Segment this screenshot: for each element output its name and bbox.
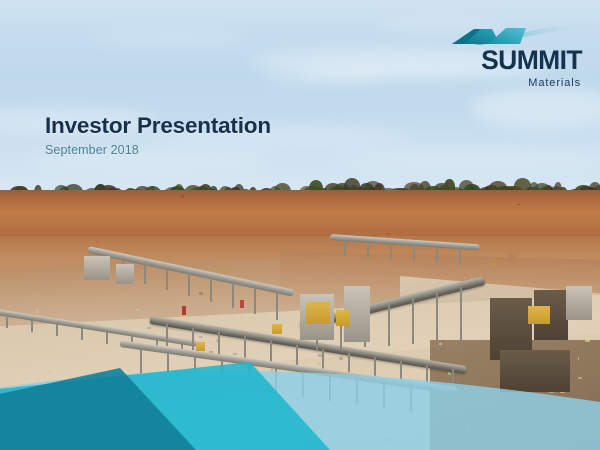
conveyor-support-leg (390, 243, 392, 259)
brand-accent-bands (0, 340, 600, 450)
conveyor-support-leg (254, 286, 256, 314)
logo-tagline: Materials (434, 77, 581, 89)
title-block: Investor Presentation September 2018 (45, 113, 271, 157)
conveyor-support-leg (276, 291, 278, 320)
plant-structure (84, 256, 110, 280)
conveyor-support-leg (210, 277, 212, 302)
summit-peak-mark (434, 24, 582, 46)
yellow-machinery (272, 324, 282, 334)
conveyor-support-leg (367, 242, 369, 258)
conveyor-support-leg (459, 248, 461, 264)
conveyor-support-leg (460, 287, 462, 341)
cloud (260, 70, 390, 84)
conveyor-support-leg (344, 240, 346, 256)
cloud (90, 30, 250, 46)
logo-wordmark: SUMMIT (434, 47, 582, 74)
conveyor-support-leg (166, 268, 168, 290)
equipment-marker (182, 306, 186, 315)
presentation-date: September 2018 (45, 143, 271, 157)
cloud (470, 88, 600, 128)
conveyor-support-leg (413, 245, 415, 261)
plant-structure (566, 286, 592, 320)
conveyor-support-leg (188, 272, 190, 296)
yellow-machinery (306, 302, 330, 324)
summit-peak-icon (434, 24, 582, 46)
conveyor-support-leg (232, 282, 234, 308)
equipment-marker (240, 300, 244, 308)
conveyor-support-leg (144, 263, 146, 284)
title-slide: Investor Presentation September 2018 (0, 0, 600, 450)
page-title: Investor Presentation (45, 113, 271, 139)
conveyor-support-leg (81, 326, 83, 340)
conveyor-support-leg (412, 298, 414, 344)
yellow-machinery (528, 306, 550, 324)
conveyor-support-leg (436, 246, 438, 262)
summit-materials-logo: SUMMIT Materials (434, 24, 582, 89)
conveyor-support-leg (31, 318, 33, 332)
yellow-machinery (336, 310, 350, 326)
conveyor-support-leg (56, 322, 58, 336)
conveyor-support-leg (6, 314, 8, 328)
conveyor-support-leg (436, 293, 438, 343)
plant-structure (116, 264, 134, 284)
cloud (330, 150, 600, 168)
